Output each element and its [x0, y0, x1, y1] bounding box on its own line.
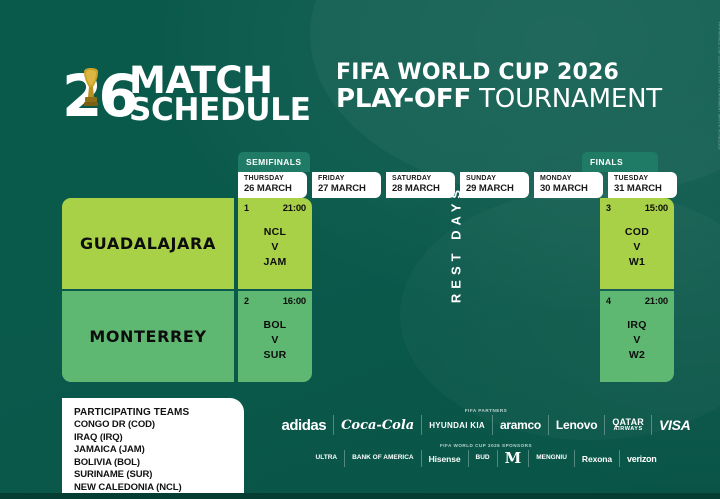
match-cell-3[interactable]: 3 15:00 COD V W1 — [600, 198, 674, 289]
match-cell-4[interactable]: 4 21:00 IRQ V W2 — [600, 291, 674, 382]
hyundai-kia-logo: HYUNDAI KIA — [421, 415, 492, 435]
logo-fifa-text: FIFA — [62, 121, 120, 132]
match-teams: NCL V JAM — [238, 225, 312, 271]
adidas-logo: adidas — [275, 415, 334, 435]
qatar-airways-logo: QATAR AIRWAYS — [604, 415, 651, 435]
date-card-thursday: THURSDAY 26 MARCH — [238, 172, 307, 198]
match-versus: V — [238, 333, 312, 348]
list-item: CONGO DR (COD) — [74, 419, 234, 432]
match-time: 21:00 — [645, 296, 668, 307]
match-teams: COD V W1 — [600, 225, 674, 271]
date-day: 29 MARCH — [466, 183, 529, 195]
match-number: 2 — [244, 296, 249, 306]
date-card-sunday: SUNDAY 29 MARCH — [460, 172, 529, 198]
participating-teams-panel: PARTICIPATING TEAMS CONGO DR (COD) IRAQ … — [62, 398, 244, 499]
world-cup-sponsors-block: FIFA WORLD CUP 2026 SPONSORS ULTRA BANK … — [296, 443, 676, 467]
brand-lockup: 26 FIFA MATCH SCHEDULE — [62, 58, 311, 134]
rest-days-label: REST DAYS — [449, 184, 464, 302]
match-away-team: W1 — [600, 255, 674, 270]
brand-line-schedule: SCHEDULE — [129, 97, 311, 124]
brand-title: MATCH SCHEDULE — [129, 65, 311, 126]
match-versus: V — [600, 240, 674, 255]
phase-tab-finals: FINALS — [582, 152, 658, 172]
date-day: 28 MARCH — [392, 183, 455, 195]
match-time: 16:00 — [283, 296, 306, 307]
tournament-title-block: FIFA WORLD CUP 2026 PLAY-OFF TOURNAMENT — [336, 62, 662, 112]
venue-label-guadalajara: GUADALAJARA — [62, 198, 234, 289]
rexona-logo: Rexona — [574, 450, 619, 467]
mengniu-logo: MENGNIU — [528, 450, 574, 467]
date-dow: FRIDAY — [318, 175, 381, 183]
venue-row-monterrey: MONTERREY 2 16:00 BOL V SUR 4 21:00 IRQ — [62, 291, 674, 382]
date-dow: TUESDAY — [614, 175, 677, 183]
bank-of-america-logo: BANK OF AMERICA — [344, 450, 421, 467]
lenovo-logo: Lenovo — [548, 415, 604, 435]
match-number: 4 — [606, 296, 611, 306]
fifa-partners-row: adidas Coca-Cola HYUNDAI KIA aramco Leno… — [296, 415, 676, 435]
world-cup-sponsors-label: FIFA WORLD CUP 2026 SPONSORS — [296, 443, 676, 448]
michelob-ultra-logo: ULTRA — [309, 450, 345, 467]
visa-logo: VISA — [651, 415, 697, 435]
list-item: JAMAICA (JAM) — [74, 444, 234, 457]
phase-tab-row: SEMIFINALS FINALS — [238, 152, 658, 172]
match-away-team: W2 — [600, 348, 674, 363]
qatar-airways-sub: AIRWAYS — [612, 427, 644, 432]
budweiser-logo: BUD — [468, 450, 497, 467]
venue-row-guadalajara: GUADALAJARA 1 21:00 NCL V JAM REST DAYS … — [62, 198, 674, 289]
date-dow: THURSDAY — [244, 175, 307, 183]
hisense-logo: Hisense — [421, 450, 468, 467]
match-number: 3 — [606, 203, 611, 213]
date-dow: MONDAY — [540, 175, 603, 183]
match-versus: V — [600, 333, 674, 348]
tournament-title-playoff: PLAY-OFF — [336, 84, 471, 114]
phase-tab-semifinals: SEMIFINALS — [238, 152, 310, 172]
match-teams: IRQ V W2 — [600, 318, 674, 364]
match-away-team: JAM — [238, 255, 312, 270]
date-day: 30 MARCH — [540, 183, 603, 195]
mcdonalds-logo: M — [497, 450, 529, 467]
date-card-tuesday: TUESDAY 31 MARCH — [608, 172, 677, 198]
date-card-friday: FRIDAY 27 MARCH — [312, 172, 381, 198]
schedule-rows: GUADALAJARA 1 21:00 NCL V JAM REST DAYS … — [62, 198, 674, 384]
tournament-title-tournament: TOURNAMENT — [479, 84, 662, 114]
tournament-title-top: FIFA WORLD CUP 2026 — [336, 62, 662, 84]
match-cell-2[interactable]: 2 16:00 BOL V SUR — [238, 291, 312, 382]
bottom-bar — [0, 493, 720, 499]
tournament-title-bottom: PLAY-OFF TOURNAMENT — [336, 86, 662, 112]
list-item: BOLIVIA (BOL) — [74, 457, 234, 470]
rest-days-block-top: REST DAYS — [316, 198, 596, 289]
verizon-logo: verizon — [619, 450, 663, 467]
match-cell-1[interactable]: 1 21:00 NCL V JAM — [238, 198, 312, 289]
date-day: 31 MARCH — [614, 183, 677, 195]
match-home-team: IRQ — [600, 318, 674, 333]
match-number: 1 — [244, 203, 249, 213]
list-item: SURINAME (SUR) — [74, 469, 234, 482]
match-teams: BOL V SUR — [238, 318, 312, 364]
fifa-partners-label: FIFA PARTNERS — [296, 408, 676, 413]
match-time: 15:00 — [645, 203, 668, 214]
rest-days-block-bottom — [316, 291, 596, 382]
match-time: 21:00 — [283, 203, 306, 214]
fifa-partners-block: FIFA PARTNERS adidas Coca-Cola HYUNDAI K… — [296, 408, 676, 435]
date-card-monday: MONDAY 30 MARCH — [534, 172, 603, 198]
world-cup-trophy-icon — [79, 65, 103, 115]
date-day: 26 MARCH — [244, 183, 307, 195]
date-card-saturday: SATURDAY 28 MARCH — [386, 172, 455, 198]
match-schedule-poster: 26 FIFA MATCH SCHEDULE FIFA WORLD CUP 20… — [0, 0, 720, 499]
poster-header: 26 FIFA MATCH SCHEDULE FIFA WORLD CUP 20… — [0, 0, 720, 150]
participating-teams-title: PARTICIPATING TEAMS — [74, 407, 234, 418]
coca-cola-logo: Coca-Cola — [333, 415, 421, 435]
date-dow: SATURDAY — [392, 175, 455, 183]
aramco-logo: aramco — [492, 415, 548, 435]
fifa-world-cup-26-logo: 26 FIFA — [62, 58, 120, 134]
world-cup-sponsors-row: ULTRA BANK OF AMERICA Hisense BUD M MENG… — [296, 450, 676, 467]
match-home-team: NCL — [238, 225, 312, 240]
sponsors-section: FIFA PARTNERS adidas Coca-Cola HYUNDAI K… — [296, 408, 676, 475]
match-home-team: BOL — [238, 318, 312, 333]
venue-label-monterrey: MONTERREY — [62, 291, 234, 382]
match-versus: V — [238, 240, 312, 255]
date-day: 27 MARCH — [318, 183, 381, 195]
match-home-team: COD — [600, 225, 674, 240]
list-item: IRAQ (IRQ) — [74, 432, 234, 445]
date-dow: SUNDAY — [466, 175, 529, 183]
match-away-team: SUR — [238, 348, 312, 363]
